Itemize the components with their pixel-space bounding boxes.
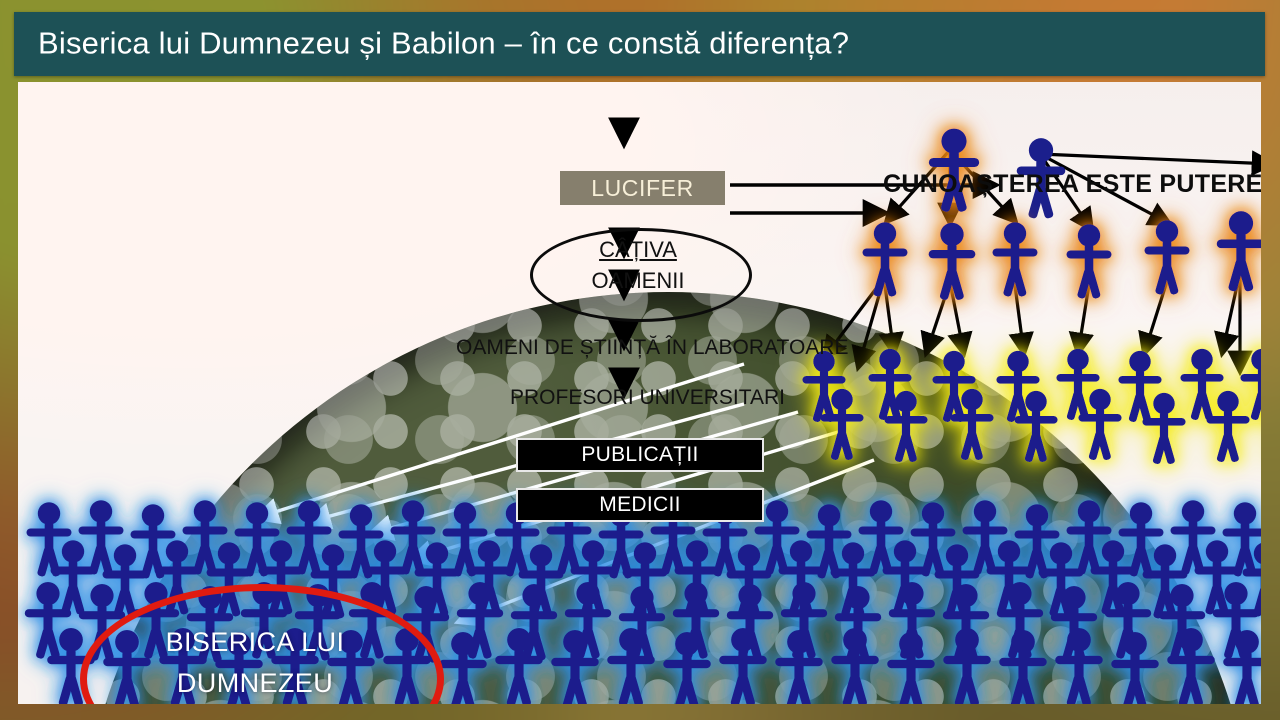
church-label-line-2: DUMNEZEU <box>80 663 430 704</box>
slide-title-bar: Biserica lui Dumnezeu și Babilon – în ce… <box>14 12 1265 76</box>
few-people-ellipse-label: CÂȚIVA OAMENII <box>530 234 746 296</box>
black-box-publications: PUBLICAȚII <box>516 438 764 472</box>
slide-canvas: LUCIFER CÂȚIVA OAMENII OAMENI DE ȘTIINȚĂ… <box>18 82 1261 704</box>
slide-root: Biserica lui Dumnezeu și Babilon – în ce… <box>0 0 1280 720</box>
page-title: Biserica lui Dumnezeu și Babilon – în ce… <box>38 25 849 61</box>
ellipse-line-2: OAMENII <box>530 265 746 296</box>
level-label-professors: PROFESORI UNIVERSITARI <box>510 386 785 410</box>
knowledge-is-power-headline: CUNOAȘTEREA ESTE PUTERE <box>883 170 1261 199</box>
level-label-scientists: OAMENI DE ȘTIINȚĂ ÎN LABORATOARE <box>456 336 848 360</box>
hierarchy-yellow-tier <box>802 349 1261 465</box>
black-box-publications-label: PUBLICAȚII <box>581 443 698 467</box>
church-label-line-1: BISERICA LUI <box>80 622 430 663</box>
black-box-doctors-label: MEDICII <box>599 493 680 517</box>
lucifer-box: LUCIFER <box>560 171 725 205</box>
ellipse-line-1: CÂȚIVA <box>530 234 746 265</box>
church-of-god-label: BISERICA LUI DUMNEZEU <box>80 622 430 704</box>
black-box-doctors: MEDICII <box>516 488 764 522</box>
lucifer-label: LUCIFER <box>591 175 694 202</box>
